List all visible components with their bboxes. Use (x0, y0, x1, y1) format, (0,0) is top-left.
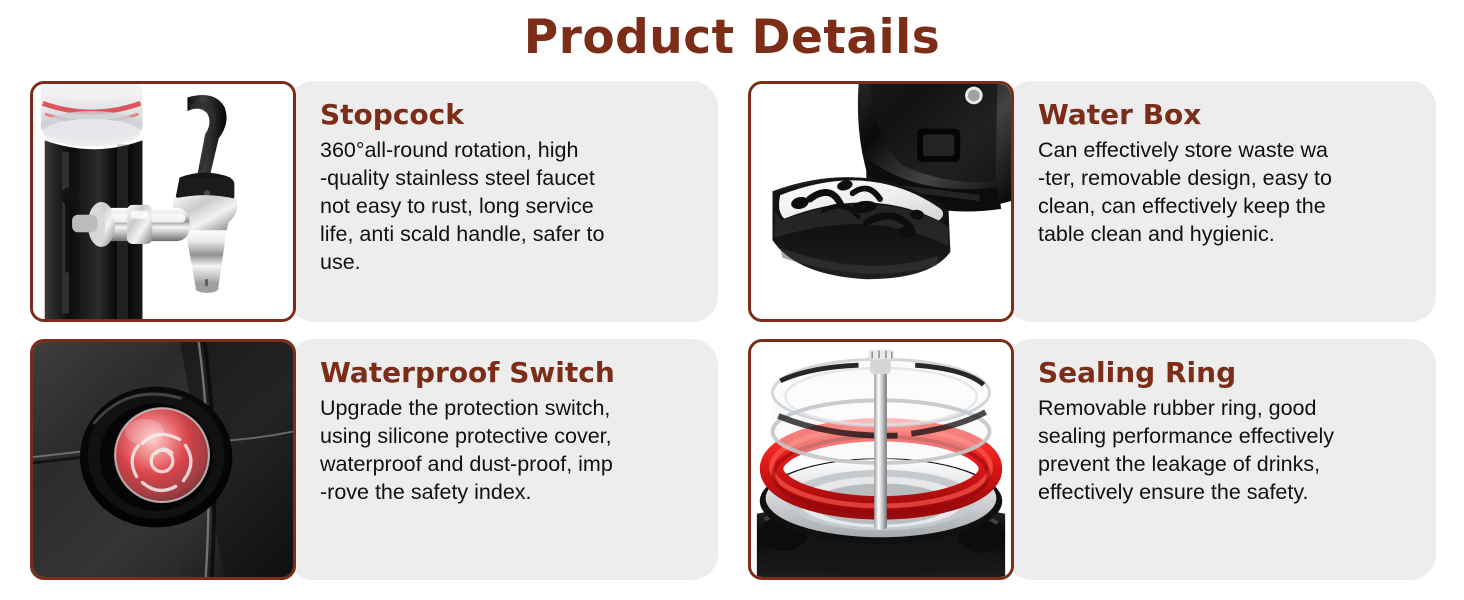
card-text-block: Waterproof Switch Upgrade the protection… (320, 357, 712, 507)
feature-card-sealing-ring: Sealing Ring Removable rubber ring, good… (748, 339, 1436, 580)
card-title-water-box: Water Box (1038, 99, 1430, 131)
card-title-sealing-ring: Sealing Ring (1038, 357, 1430, 389)
card-text-block: Stopcock 360°all-round rotation, high -q… (320, 99, 712, 277)
card-text-block: Water Box Can effectively store waste wa… (1038, 99, 1430, 249)
feature-card-waterproof-switch: Waterproof Switch Upgrade the protection… (30, 339, 718, 580)
waterproof-switch-photo (30, 339, 296, 580)
card-description-waterproof-switch: Upgrade the protection switch, using sil… (320, 395, 712, 507)
sealing-ring-photo (748, 339, 1014, 580)
card-description-stopcock: 360°all-round rotation, high -quality st… (320, 137, 712, 277)
card-description-sealing-ring: Removable rubber ring, good sealing perf… (1038, 395, 1430, 507)
water-box-photo (748, 81, 1014, 322)
card-title-waterproof-switch: Waterproof Switch (320, 357, 712, 389)
stopcock-photo (30, 81, 296, 322)
feature-card-water-box: Water Box Can effectively store waste wa… (748, 81, 1436, 322)
card-description-water-box: Can effectively store waste wa -ter, rem… (1038, 137, 1430, 249)
feature-card-stopcock: Stopcock 360°all-round rotation, high -q… (30, 81, 718, 322)
card-text-block: Sealing Ring Removable rubber ring, good… (1038, 357, 1430, 507)
page-title: Product Details (0, 10, 1464, 65)
product-details-infographic: Product Details (0, 0, 1464, 600)
card-title-stopcock: Stopcock (320, 99, 712, 131)
